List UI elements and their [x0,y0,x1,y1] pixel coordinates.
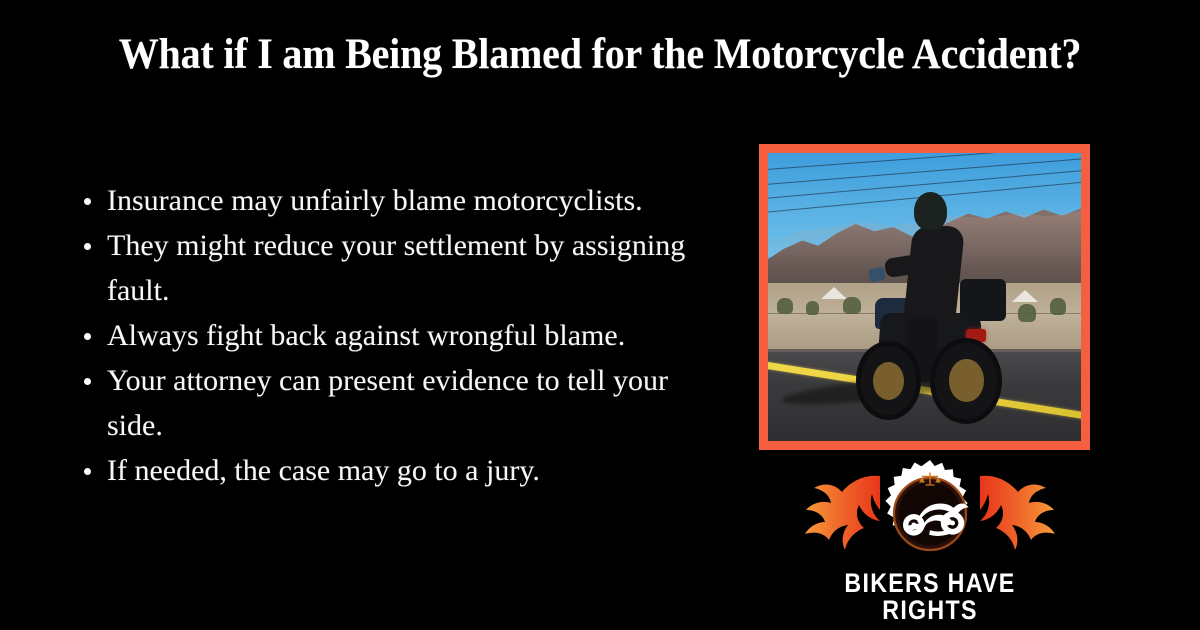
bullet-list: Insurance may unfairly blame motorcyclis… [72,178,702,493]
saddlebag [960,279,1006,321]
list-item: They might reduce your settlement by ass… [72,223,702,313]
logo-name: BIKERS HAVE RIGHTS [818,570,1042,624]
gear-emblem-icon [876,460,984,568]
desert-brush [777,298,793,314]
page-title-line1: What if I am Being Blamed for the Motorc… [119,31,905,78]
desert-brush [806,301,819,315]
desert-brush [1050,298,1066,315]
motorcycle-with-rider [853,234,1016,424]
bullet-text: If needed, the case may go to a jury. [107,454,540,487]
rear-wheel [930,338,1002,424]
tent-icon [1012,290,1038,302]
flame-right-icon [980,470,1058,556]
list-item: Your attorney can present evidence to te… [72,358,702,448]
list-item: If needed, the case may go to a jury. [72,448,702,493]
page-title-line2: Accident? [912,31,1081,78]
brand-logo: BIKERS HAVE RIGHTS MOTORCYCLE ATTORNEYS [800,458,1060,618]
page-title: What if I am Being Blamed for the Motorc… [107,24,1093,85]
photo-frame [759,144,1090,450]
logo-text-block: BIKERS HAVE RIGHTS MOTORCYCLE ATTORNEYS [800,570,1060,630]
tent-icon [821,287,847,299]
list-item: Insurance may unfairly blame motorcyclis… [72,178,702,223]
logo-mark [800,458,1060,570]
rider-torso [903,226,965,325]
motorcycle-photo [768,153,1081,441]
bullet-text: They might reduce your settlement by ass… [107,229,685,307]
bullet-text: Always fight back against wrongful blame… [107,319,625,352]
infographic-canvas: What if I am Being Blamed for the Motorc… [0,0,1200,630]
bullet-text: Insurance may unfairly blame motorcyclis… [107,184,643,217]
list-item: Always fight back against wrongful blame… [72,313,702,358]
desert-brush [1018,304,1036,322]
flame-left-icon [802,470,880,556]
bullet-text: Your attorney can present evidence to te… [107,364,668,442]
rider-helmet [914,192,947,230]
mirror [868,266,887,282]
front-wheel [856,341,921,419]
